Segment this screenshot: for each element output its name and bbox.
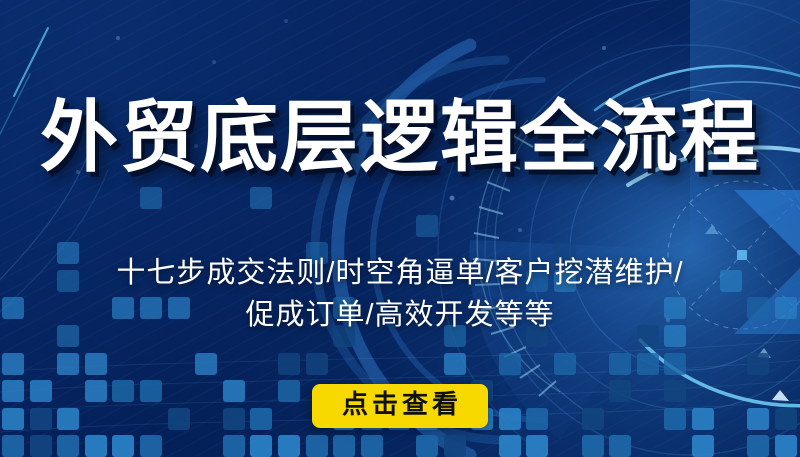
click-to-view-button[interactable]: 点击查看 (312, 384, 488, 428)
poster-subtitle: 十七步成交法则/时空角逼单/客户挖潜维护/ 促成订单/高效开发等等 (0, 252, 800, 336)
poster-content: 外贸底层逻辑全流程 十七步成交法则/时空角逼单/客户挖潜维护/ 促成订单/高效开… (0, 0, 800, 457)
subtitle-line-2: 促成订单/高效开发等等 (0, 294, 800, 336)
promo-poster: 外贸底层逻辑全流程 十七步成交法则/时空角逼单/客户挖潜维护/ 促成订单/高效开… (0, 0, 800, 457)
page-title: 外贸底层逻辑全流程 (0, 98, 800, 176)
cta-container: 点击查看 (0, 384, 800, 428)
subtitle-line-1: 十七步成交法则/时空角逼单/客户挖潜维护/ (0, 252, 800, 294)
